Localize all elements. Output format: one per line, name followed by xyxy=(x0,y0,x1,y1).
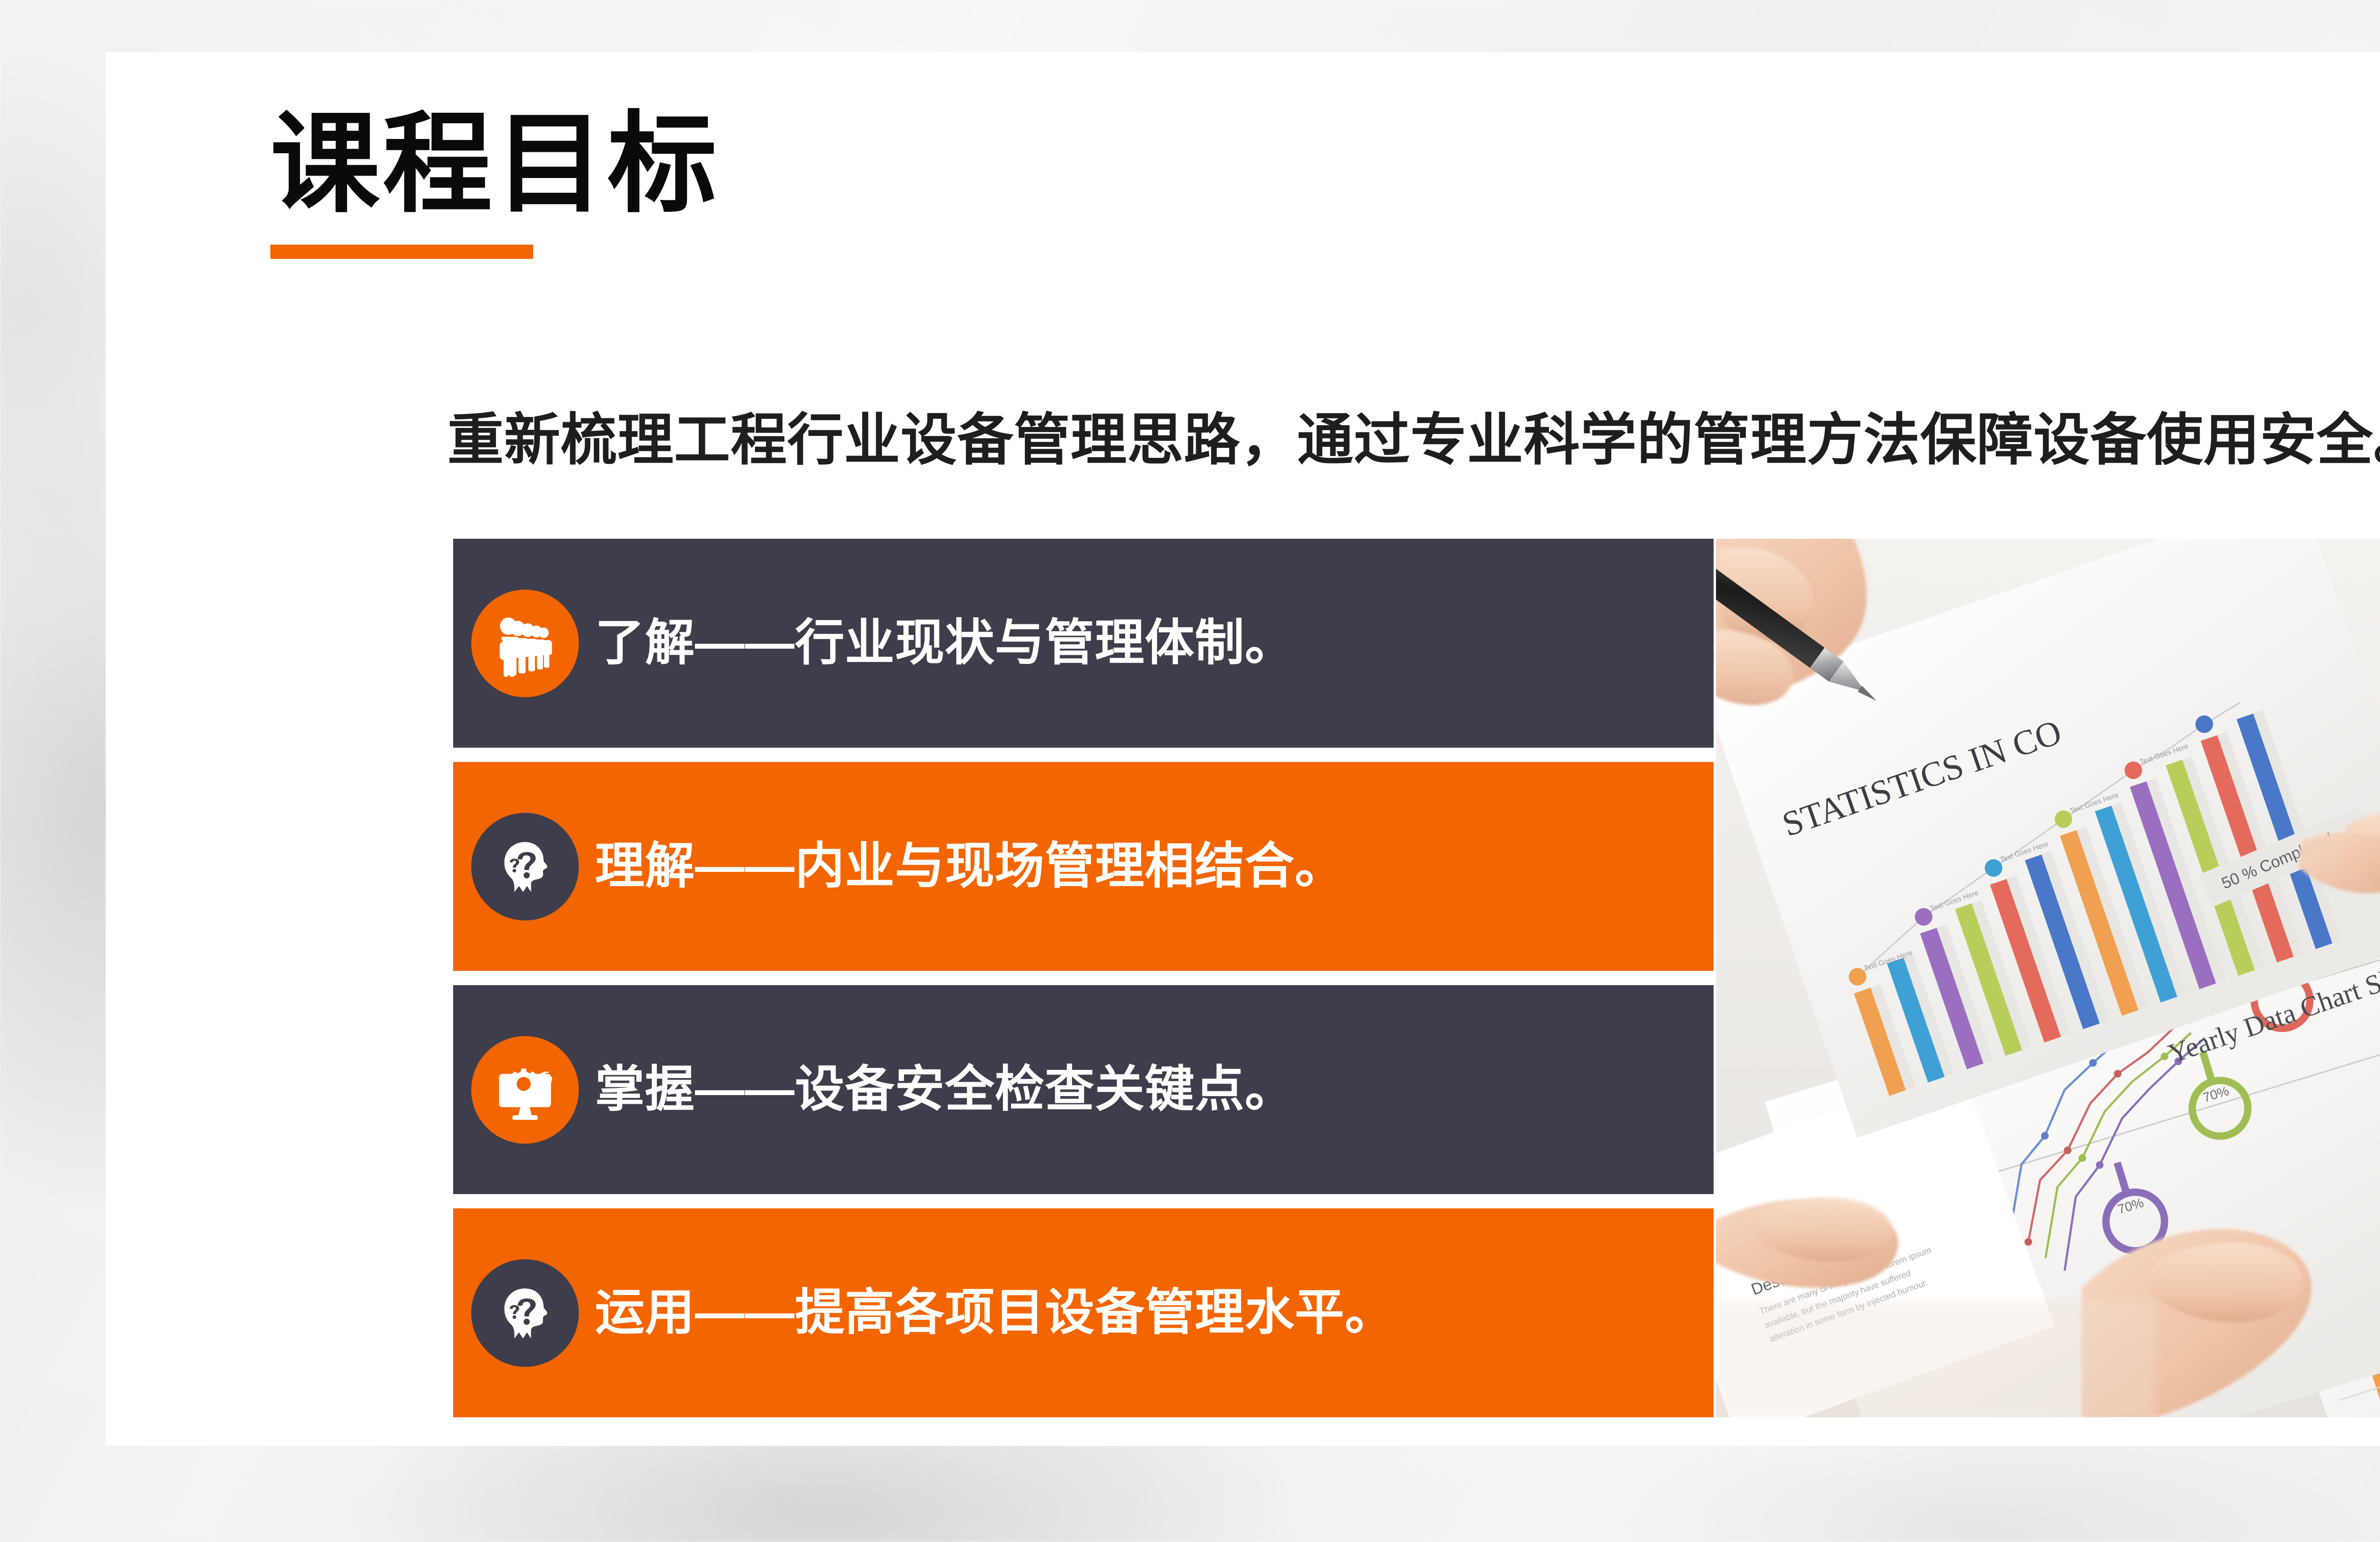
slide-subtitle: 重新梳理工程行业设备管理思路，通过专业科学的管理方法保障设备使用安全。 xyxy=(447,394,2380,475)
objective-row-3[interactable]: 掌握——设备安全检查关键点。 xyxy=(453,985,1714,1194)
slide-card: 课程目标 重新梳理工程行业设备管理思路，通过专业科学的管理方法保障设备使用安全。 xyxy=(106,52,2380,1446)
objective-row-1[interactable]: 了解——行业现状与管理体制。 xyxy=(453,539,1714,748)
business-hands-charts-photo: Line Chart Slide Line Chart Slide xyxy=(1716,539,2380,1417)
title-block: 课程目标 xyxy=(270,109,720,259)
content-area: 了解——行业现状与管理体制。 xyxy=(453,539,2380,1417)
group-people-icon xyxy=(471,590,579,697)
objective-row-2-text: 理解——内业与现场管理相结合。 xyxy=(595,839,1345,893)
objective-row-4[interactable]: 运用——提高各项目设备管理水平。 xyxy=(453,1208,1714,1417)
objective-row-1-text: 了解——行业现状与管理体制。 xyxy=(595,616,1295,670)
objective-row-4-text: 运用——提高各项目设备管理水平。 xyxy=(595,1285,1395,1340)
page-title: 课程目标 xyxy=(270,109,720,219)
objective-row-2[interactable]: 理解——内业与现场管理相结合。 xyxy=(453,762,1714,971)
objective-list: 了解——行业现状与管理体制。 xyxy=(453,539,1714,1417)
monitor-gear-wrench-icon xyxy=(471,1036,579,1144)
objective-row-3-text: 掌握——设备安全检查关键点。 xyxy=(595,1062,1295,1117)
slide-root: 课程目标 重新梳理工程行业设备管理思路，通过专业科学的管理方法保障设备使用安全。 xyxy=(0,0,2380,1542)
head-question-icon xyxy=(471,813,579,920)
title-underline-rule xyxy=(270,245,533,259)
head-question-icon xyxy=(471,1259,579,1367)
